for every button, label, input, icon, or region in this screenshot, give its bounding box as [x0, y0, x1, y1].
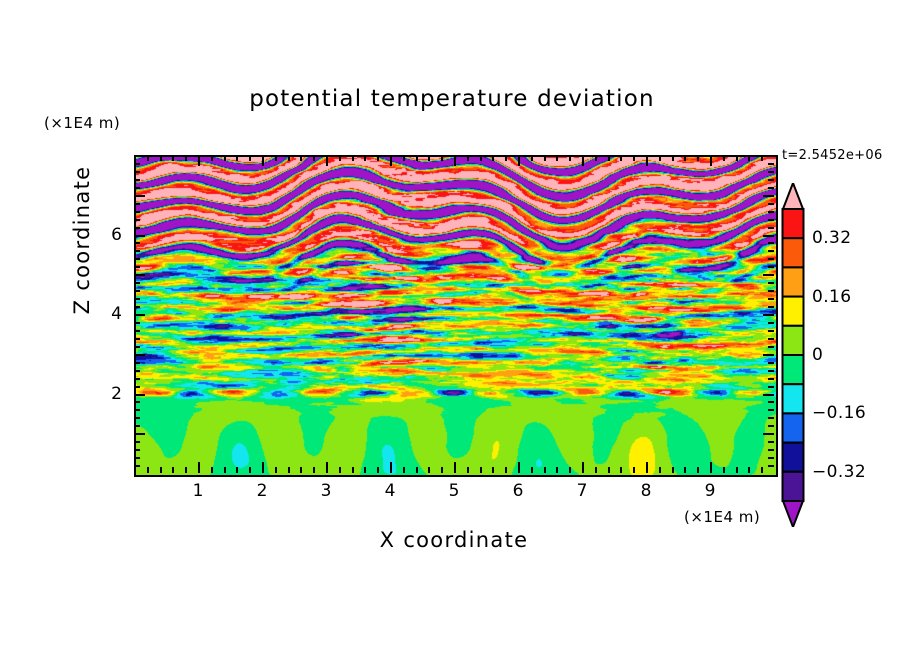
- colorbar-band: [783, 238, 804, 267]
- x-axis-tick: [198, 155, 200, 166]
- colorbar-band: [783, 443, 804, 472]
- x-axis-tick-label: 9: [690, 481, 730, 501]
- x-axis-tick: [236, 467, 238, 473]
- x-axis-tick: [403, 155, 405, 161]
- x-axis-tick: [377, 467, 379, 473]
- y-axis-tick: [768, 362, 774, 364]
- x-axis-tick: [748, 467, 750, 473]
- y-axis-tick: [134, 195, 145, 197]
- x-axis-tick: [390, 155, 392, 166]
- y-axis-tick: [768, 338, 774, 340]
- y-axis-tick: [763, 195, 774, 197]
- y-axis-tick: [763, 354, 774, 356]
- y-axis-tick-label: 4: [82, 304, 122, 324]
- y-axis-tick: [134, 282, 140, 284]
- y-axis-tick: [134, 362, 140, 364]
- colorbar-tick-label: 0: [812, 345, 823, 365]
- y-axis-tick: [134, 219, 140, 221]
- y-axis-tick: [768, 346, 774, 348]
- y-axis-tick: [134, 449, 140, 451]
- x-axis-tick: [275, 467, 277, 473]
- simulation-timestamp: t=2.5452e+06: [782, 148, 883, 163]
- contour-field: [136, 157, 776, 475]
- colorbar-tick-label: 0.16: [812, 287, 851, 307]
- x-axis-tick: [249, 155, 251, 161]
- y-axis-tick: [134, 266, 140, 268]
- x-axis-tick: [326, 462, 328, 473]
- x-axis-tick: [185, 155, 187, 161]
- y-axis-tick: [768, 187, 774, 189]
- y-axis-tick: [134, 457, 140, 459]
- y-axis-tick: [768, 417, 774, 419]
- y-axis-tick: [763, 274, 774, 276]
- x-axis-tick: [467, 467, 469, 473]
- x-axis-tick: [646, 462, 648, 473]
- x-axis-tick: [224, 467, 226, 473]
- x-axis-tick: [480, 155, 482, 161]
- x-axis-tick: [697, 155, 699, 161]
- y-axis-tick: [134, 394, 145, 396]
- x-axis-tick: [672, 467, 674, 473]
- y-axis-tick: [768, 219, 774, 221]
- y-axis-tick: [134, 298, 140, 300]
- x-axis-tick: [185, 467, 187, 473]
- colorbar-band: [783, 472, 804, 501]
- y-axis-tick: [134, 290, 140, 292]
- y-axis-tick: [763, 433, 774, 435]
- y-axis-tick: [134, 274, 145, 276]
- x-axis-tick: [352, 467, 354, 473]
- x-axis-tick: [633, 467, 635, 473]
- x-axis-tick: [697, 467, 699, 473]
- y-axis-tick: [768, 282, 774, 284]
- x-axis-tick: [339, 155, 341, 161]
- colorbar-tick-label: −0.32: [812, 462, 866, 482]
- x-axis-tick: [313, 155, 315, 161]
- x-axis-tick: [211, 467, 213, 473]
- y-axis-tick: [768, 401, 774, 403]
- y-axis-tick: [768, 425, 774, 427]
- x-axis-tick: [710, 462, 712, 473]
- x-axis-tick: [211, 155, 213, 161]
- x-axis-tick: [377, 155, 379, 161]
- x-axis-tick: [403, 467, 405, 473]
- x-axis-tick: [569, 467, 571, 473]
- y-axis-tick: [134, 378, 140, 380]
- x-axis-tick: [262, 155, 264, 166]
- y-axis-tick-label: 6: [82, 225, 122, 245]
- x-axis-tick: [710, 155, 712, 166]
- x-axis-tick: [736, 155, 738, 161]
- x-axis-tick: [416, 155, 418, 161]
- x-axis-tick: [467, 155, 469, 161]
- colorbar-tick-label: 0.32: [812, 228, 851, 248]
- plot-area: [134, 155, 778, 477]
- colorbar-band: [783, 355, 804, 384]
- x-axis-tick: [288, 467, 290, 473]
- y-axis-tick-label: 2: [82, 384, 122, 404]
- x-axis-tick: [595, 155, 597, 161]
- x-axis-tick: [582, 462, 584, 473]
- y-axis-tick: [768, 449, 774, 451]
- y-axis-tick: [768, 171, 774, 173]
- y-axis-tick: [768, 258, 774, 260]
- y-axis-tick: [134, 417, 140, 419]
- x-axis-tick: [684, 155, 686, 161]
- y-axis-tick: [134, 250, 140, 252]
- x-axis-tick: [454, 462, 456, 473]
- x-axis-tick: [198, 462, 200, 473]
- x-axis-tick: [544, 155, 546, 161]
- x-axis-tick: [147, 155, 149, 161]
- x-axis-tick: [723, 467, 725, 473]
- y-axis-tick: [134, 346, 140, 348]
- x-axis-unit-label: (×1E4 m): [684, 508, 760, 526]
- x-axis-tick: [492, 155, 494, 161]
- x-axis-tick: [428, 155, 430, 161]
- y-axis-tick: [768, 266, 774, 268]
- x-axis-tick: [441, 155, 443, 161]
- y-axis-tick: [768, 179, 774, 181]
- x-axis-tick: [236, 155, 238, 161]
- y-axis-tick: [134, 386, 140, 388]
- x-axis-tick-label: 1: [178, 481, 218, 501]
- x-axis-tick: [505, 155, 507, 161]
- x-axis-tick: [659, 155, 661, 161]
- y-axis-tick: [134, 322, 140, 324]
- x-axis-tick: [160, 155, 162, 161]
- x-axis-tick: [518, 155, 520, 166]
- y-axis-tick: [768, 370, 774, 372]
- x-axis-tick: [531, 155, 533, 161]
- y-axis-tick: [768, 322, 774, 324]
- x-axis-tick: [364, 155, 366, 161]
- x-axis-tick: [684, 467, 686, 473]
- x-axis-tick: [582, 155, 584, 166]
- y-axis-tick: [768, 290, 774, 292]
- colorbar-arrow-bottom: [783, 501, 803, 527]
- y-axis-tick: [134, 338, 140, 340]
- y-axis-tick: [134, 306, 140, 308]
- x-axis-tick-label: 4: [370, 481, 410, 501]
- x-axis-tick: [544, 467, 546, 473]
- x-axis-tick: [531, 467, 533, 473]
- x-axis-tick: [608, 155, 610, 161]
- x-axis-tick: [428, 467, 430, 473]
- x-axis-tick: [224, 155, 226, 161]
- y-axis-tick: [134, 242, 140, 244]
- x-axis-tick: [748, 155, 750, 161]
- x-axis-tick: [364, 467, 366, 473]
- y-axis-tick: [768, 457, 774, 459]
- x-axis-tick: [352, 155, 354, 161]
- x-axis-tick-label: 3: [306, 481, 346, 501]
- colorbar-band: [783, 267, 804, 296]
- x-axis-tick: [646, 155, 648, 166]
- x-axis-tick: [454, 155, 456, 166]
- x-axis-tick: [672, 155, 674, 161]
- x-axis-tick: [633, 155, 635, 161]
- x-axis-tick: [556, 155, 558, 161]
- y-axis-tick: [134, 179, 140, 181]
- y-axis-tick: [134, 425, 140, 427]
- x-axis-title: X coordinate: [134, 528, 774, 552]
- x-axis-tick: [275, 155, 277, 161]
- x-axis-tick: [736, 467, 738, 473]
- y-axis-tick: [768, 163, 774, 165]
- y-axis-tick: [134, 211, 140, 213]
- x-axis-tick: [249, 467, 251, 473]
- colorbar-band: [783, 413, 804, 442]
- x-axis-tick: [761, 155, 763, 161]
- y-axis-tick: [134, 401, 140, 403]
- y-axis-tick: [134, 203, 140, 205]
- x-axis-tick: [441, 467, 443, 473]
- x-axis-tick: [620, 467, 622, 473]
- x-axis-tick: [160, 467, 162, 473]
- x-axis-tick: [556, 467, 558, 473]
- x-axis-tick: [172, 467, 174, 473]
- x-axis-tick: [313, 467, 315, 473]
- y-axis-tick: [134, 370, 140, 372]
- x-axis-tick: [172, 155, 174, 161]
- colorbar-band: [783, 297, 804, 326]
- x-axis-tick: [761, 467, 763, 473]
- colorbar-band: [783, 384, 804, 413]
- x-axis-tick: [595, 467, 597, 473]
- y-axis-tick: [134, 227, 140, 229]
- x-axis-tick: [262, 462, 264, 473]
- colorbar-band: [783, 209, 804, 238]
- colorbar-arrow-top: [783, 183, 803, 209]
- x-axis-tick: [608, 467, 610, 473]
- x-axis-tick: [505, 467, 507, 473]
- y-axis-tick: [763, 235, 774, 237]
- y-axis-tick: [768, 211, 774, 213]
- x-axis-tick: [723, 155, 725, 161]
- y-axis-tick: [134, 409, 140, 411]
- y-axis-tick: [768, 441, 774, 443]
- y-axis-tick: [134, 258, 140, 260]
- y-axis-tick: [134, 441, 140, 443]
- x-axis-tick: [326, 155, 328, 166]
- y-axis-tick: [134, 433, 145, 435]
- x-axis-tick: [300, 467, 302, 473]
- colorbar: [781, 183, 805, 527]
- x-axis-tick-label: 2: [242, 481, 282, 501]
- y-axis-tick: [134, 171, 140, 173]
- y-axis-tick: [134, 330, 140, 332]
- y-axis-tick: [134, 314, 145, 316]
- x-axis-tick: [659, 467, 661, 473]
- page-title: potential temperature deviation: [0, 86, 904, 112]
- x-axis-tick: [480, 467, 482, 473]
- y-axis-tick: [768, 227, 774, 229]
- colorbar-tick-label: −0.16: [812, 403, 866, 423]
- y-axis-tick: [763, 314, 774, 316]
- y-axis-tick: [768, 465, 774, 467]
- x-axis-tick: [620, 155, 622, 161]
- y-axis-tick: [768, 386, 774, 388]
- x-axis-tick-label: 6: [498, 481, 538, 501]
- x-axis-tick: [288, 155, 290, 161]
- y-axis-tick: [134, 163, 140, 165]
- x-axis-tick: [492, 467, 494, 473]
- colorbar-band: [783, 326, 804, 355]
- x-axis-tick: [518, 462, 520, 473]
- figure-canvas: potential temperature deviation (×1E4 m)…: [0, 0, 904, 654]
- y-axis-tick: [768, 409, 774, 411]
- x-axis-tick: [147, 467, 149, 473]
- y-axis-tick: [768, 250, 774, 252]
- y-axis-tick: [134, 465, 140, 467]
- y-axis-tick: [768, 330, 774, 332]
- y-axis-tick: [768, 203, 774, 205]
- x-axis-tick: [416, 467, 418, 473]
- x-axis-tick: [300, 155, 302, 161]
- y-axis-tick: [768, 378, 774, 380]
- y-axis-tick: [768, 306, 774, 308]
- y-axis-tick: [763, 394, 774, 396]
- y-axis-tick: [134, 187, 140, 189]
- x-axis-tick: [339, 467, 341, 473]
- y-axis-tick: [134, 354, 145, 356]
- x-axis-tick: [569, 155, 571, 161]
- x-axis-tick-label: 5: [434, 481, 474, 501]
- x-axis-tick: [390, 462, 392, 473]
- x-axis-tick-label: 7: [562, 481, 602, 501]
- y-axis-tick: [768, 242, 774, 244]
- y-axis-tick: [768, 298, 774, 300]
- y-axis-tick: [134, 235, 145, 237]
- x-axis-tick-label: 8: [626, 481, 666, 501]
